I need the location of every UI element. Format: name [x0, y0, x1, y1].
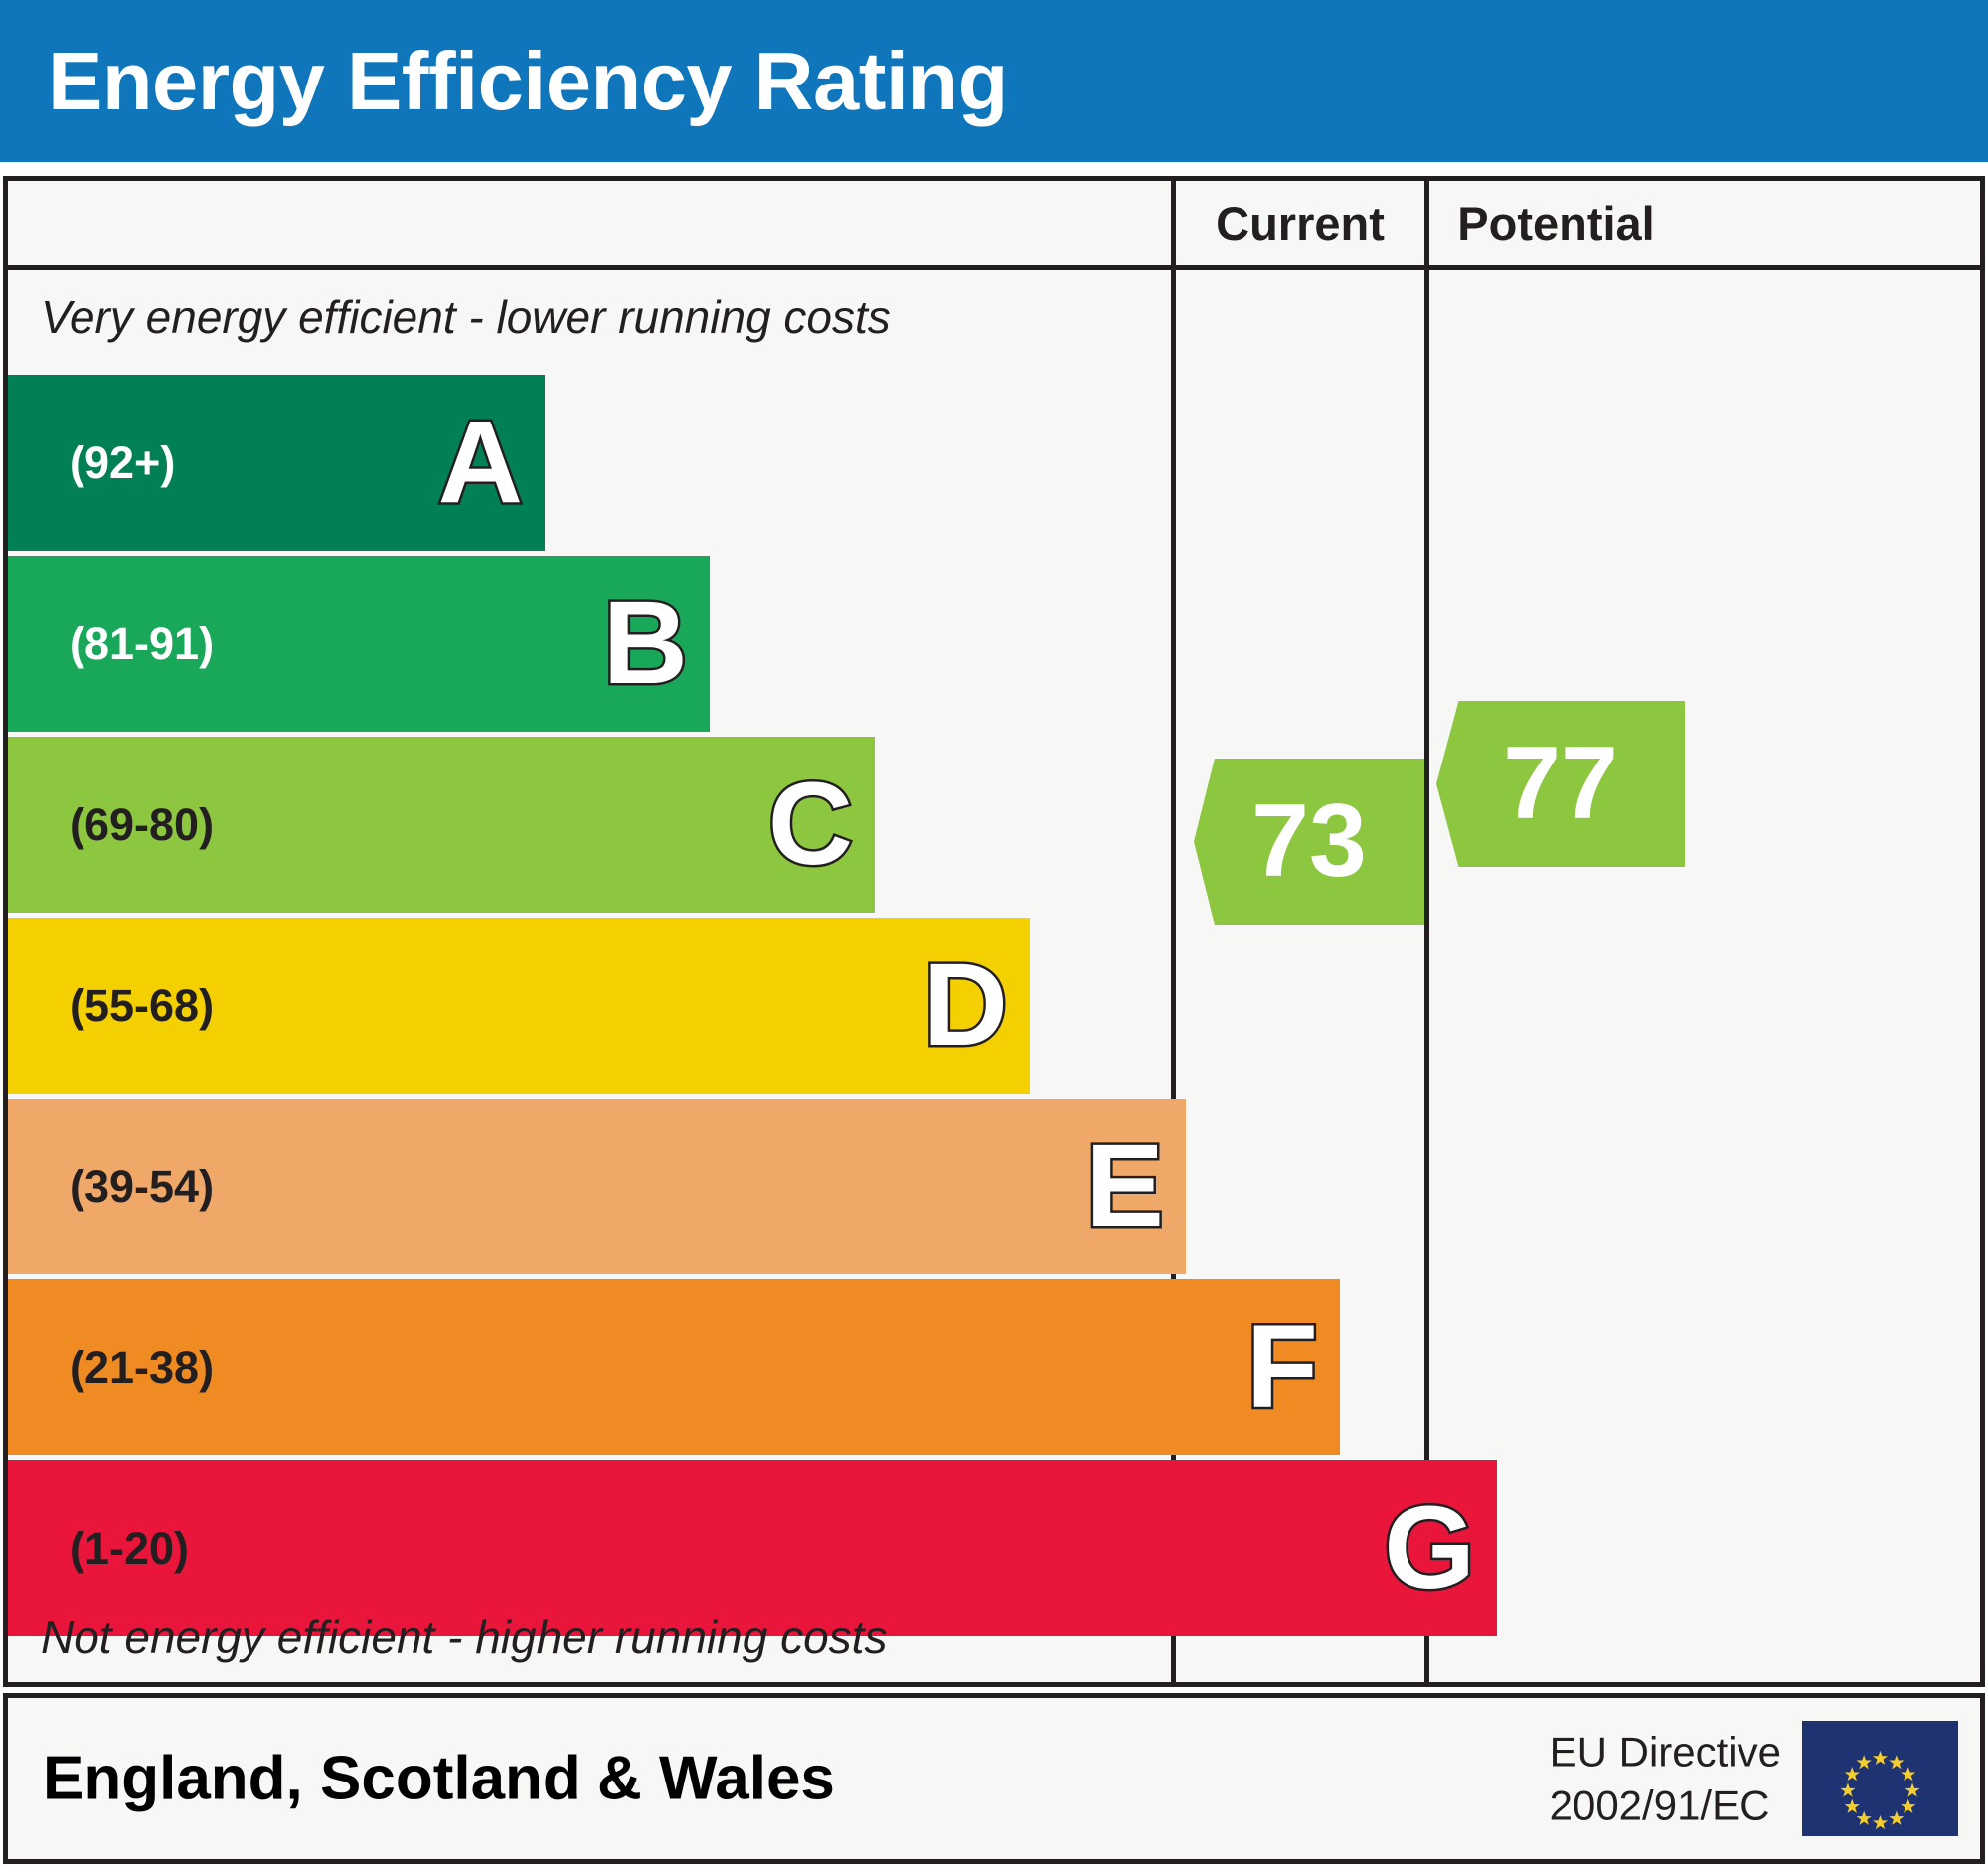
band-grade-g: G	[1384, 1494, 1475, 1603]
band-grade-d: D	[923, 951, 1008, 1060]
epc-energy-efficiency-chart: Energy Efficiency Rating Current Potenti…	[0, 0, 1988, 1867]
band-grade-b: B	[603, 590, 688, 698]
bands-area: Very energy efficient - lower running co…	[8, 270, 1171, 1682]
caption-not-efficient: Not energy efficient - higher running co…	[41, 1611, 887, 1664]
band-grade-f: F	[1246, 1313, 1318, 1422]
band-row-b: (81-91) B	[8, 556, 710, 732]
column-header-potential: Potential	[1429, 181, 1683, 265]
band-grade-a: A	[438, 409, 523, 517]
column-header-row: Current Potential	[8, 181, 1980, 270]
page-title: Energy Efficiency Rating	[48, 34, 1008, 129]
band-range-f: (21-38)	[70, 1342, 214, 1394]
rating-table: Current Potential Very energy efficient …	[3, 176, 1985, 1687]
band-row-e: (39-54) E	[8, 1099, 1186, 1274]
eu-flag-icon	[1802, 1721, 1958, 1836]
band-range-e: (39-54)	[70, 1161, 214, 1213]
column-header-current: Current	[1176, 181, 1424, 265]
band-range-c: (69-80)	[70, 799, 214, 851]
column-divider-potential	[1424, 181, 1429, 1682]
potential-rating-badge: 77	[1436, 701, 1685, 867]
current-rating-badge: 73	[1194, 759, 1424, 925]
band-range-d: (55-68)	[70, 980, 214, 1032]
band-grade-c: C	[768, 770, 853, 879]
footer-directive: EU Directive 2002/91/EC	[1550, 1725, 1781, 1832]
column-divider-current	[1171, 181, 1176, 1682]
footer-bar: England, Scotland & Wales EU Directive 2…	[3, 1693, 1985, 1864]
band-row-f: (21-38) F	[8, 1279, 1340, 1455]
footer-region-label: England, Scotland & Wales	[43, 1744, 835, 1814]
band-range-b: (81-91)	[70, 618, 214, 670]
potential-rating-value: 77	[1503, 725, 1618, 843]
caption-efficient: Very energy efficient - lower running co…	[41, 290, 891, 344]
footer-directive-line1: EU Directive	[1550, 1725, 1781, 1779]
band-grade-e: E	[1085, 1132, 1164, 1241]
band-range-g: (1-20)	[70, 1523, 189, 1575]
band-row-c: (69-80) C	[8, 737, 875, 913]
title-bar: Energy Efficiency Rating	[0, 0, 1988, 162]
band-range-a: (92+)	[70, 437, 175, 489]
current-rating-value: 73	[1251, 782, 1367, 901]
band-row-d: (55-68) D	[8, 918, 1030, 1094]
band-row-a: (92+) A	[8, 375, 545, 551]
footer-directive-line2: 2002/91/EC	[1550, 1779, 1781, 1832]
